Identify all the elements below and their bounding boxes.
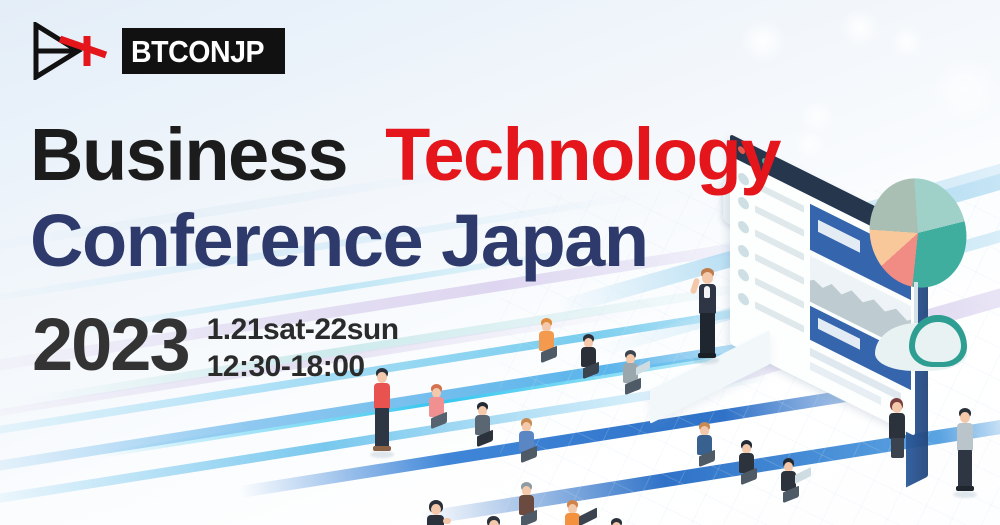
attendee-figure: [470, 402, 496, 446]
figure-legs: [891, 438, 904, 458]
accent-shape-inner: [915, 322, 961, 362]
headline-business: Business: [30, 113, 347, 196]
attendee-figure: [576, 334, 602, 378]
figure-shadow: [953, 491, 977, 498]
pie-chart: [870, 178, 966, 288]
figure-shoe: [698, 353, 716, 358]
headline-line-2: Conference Japan: [30, 204, 750, 278]
figure-shoe: [956, 486, 974, 491]
tablet: [636, 364, 650, 374]
figure-body: [889, 413, 905, 439]
event-date-range: 1.21sat-22sun: [207, 312, 399, 347]
presenter-figure: [690, 268, 724, 360]
figure-head: [960, 412, 970, 423]
wordmark-text: BTCONJP: [131, 36, 264, 67]
headline-line-1: Business Technology: [30, 118, 750, 192]
figure-legs: [958, 450, 972, 488]
attendee-figure: [618, 350, 644, 394]
standing-figure: [420, 500, 452, 525]
attendee-figure: [734, 440, 760, 484]
teal-accent-shape: [875, 315, 967, 377]
figure-legs: [700, 313, 715, 355]
figure-body: [427, 515, 444, 525]
figure-shadow: [693, 357, 719, 364]
figure-head: [431, 504, 441, 515]
figure-head: [489, 520, 499, 525]
figure-head: [892, 402, 902, 413]
btconjp-wordmark: BTCONJP: [122, 28, 285, 74]
staff-figure: [882, 398, 910, 460]
figure-body: [957, 423, 973, 451]
page-title: Business Technology Conference Japan: [30, 118, 750, 278]
event-schedule: 1.21sat-22sun 12:30-18:00: [207, 306, 399, 385]
tablet-screen: [636, 361, 650, 376]
event-year: 2023: [32, 308, 189, 382]
attendee-figure: [424, 384, 450, 428]
attendee-figure: [534, 318, 560, 362]
event-time-range: 12:30-18:00: [207, 349, 399, 384]
figure-shoe: [373, 446, 391, 451]
laptop: [795, 471, 811, 481]
laptop: [579, 512, 597, 522]
event-date-block: 2023 1.21sat-22sun 12:30-18:00: [32, 306, 399, 385]
pie-chart-disc: [858, 168, 978, 298]
standing-figure: [478, 516, 510, 525]
figure-shadow: [370, 451, 394, 458]
figure-shirt: [704, 286, 710, 298]
attendee-figure: [560, 500, 586, 525]
attendee-figure: [692, 422, 718, 466]
attendee-figure: [604, 518, 630, 525]
bullet-icon: [738, 291, 749, 307]
attendee-figure: [514, 418, 540, 462]
btcon-b-t-arrow-mark-icon: [30, 22, 116, 80]
attendee-figure: [776, 458, 802, 502]
figure-body: [374, 383, 390, 409]
figure-body: [565, 513, 580, 525]
figure-legs: [375, 408, 389, 448]
figure-arm: [443, 518, 451, 524]
standing-figure: [950, 408, 980, 494]
poster-canvas: BTCONJP Business Technology Conference J…: [0, 0, 1000, 525]
brand-logo[interactable]: BTCONJP: [30, 22, 285, 80]
headline-technology: Technology: [385, 113, 780, 196]
attendee-figure: [514, 482, 540, 525]
